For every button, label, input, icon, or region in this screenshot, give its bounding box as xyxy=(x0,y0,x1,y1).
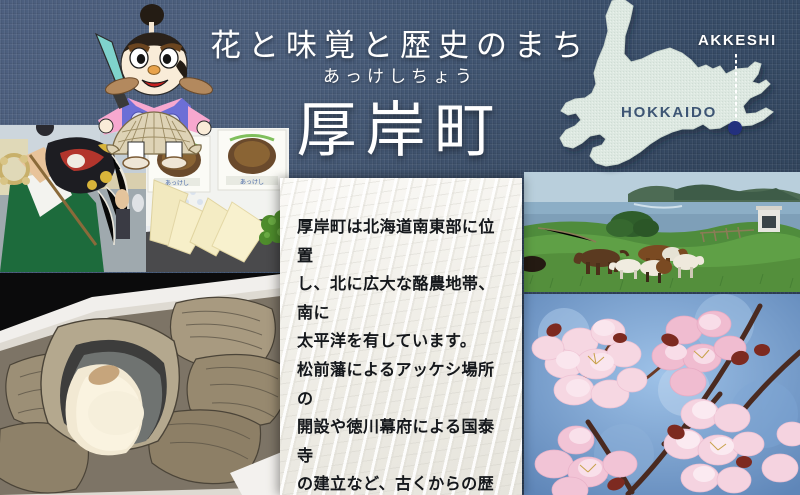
oysters-photo xyxy=(0,273,289,495)
description-card: 厚岸町は北海道南東部に位置 し、北に広大な酪農地帯、南に 太平洋を有しています。… xyxy=(280,178,522,495)
akkeshi-mascot-character: あ あ xyxy=(92,2,220,178)
akkeshi-town-banner: AKKESHI HOKKAIDO 花と味覚と歴史のまち あっけしちょう 厚岸町 xyxy=(0,0,800,495)
cherry-blossom-photo xyxy=(524,294,800,495)
akkeshi-marker-label: AKKESHI xyxy=(698,32,777,49)
hokkaido-region-label: HOKKAIDO xyxy=(621,104,717,121)
description-text: 厚岸町は北海道南東部に位置 し、北に広大な酪農地帯、南に 太平洋を有しています。… xyxy=(297,214,508,495)
akkeshi-leader-line xyxy=(735,54,737,126)
svg-text:あっけし: あっけし xyxy=(240,179,264,186)
akkeshi-location-dot xyxy=(728,121,742,135)
coastal-pasture-horses-photo xyxy=(524,172,800,292)
